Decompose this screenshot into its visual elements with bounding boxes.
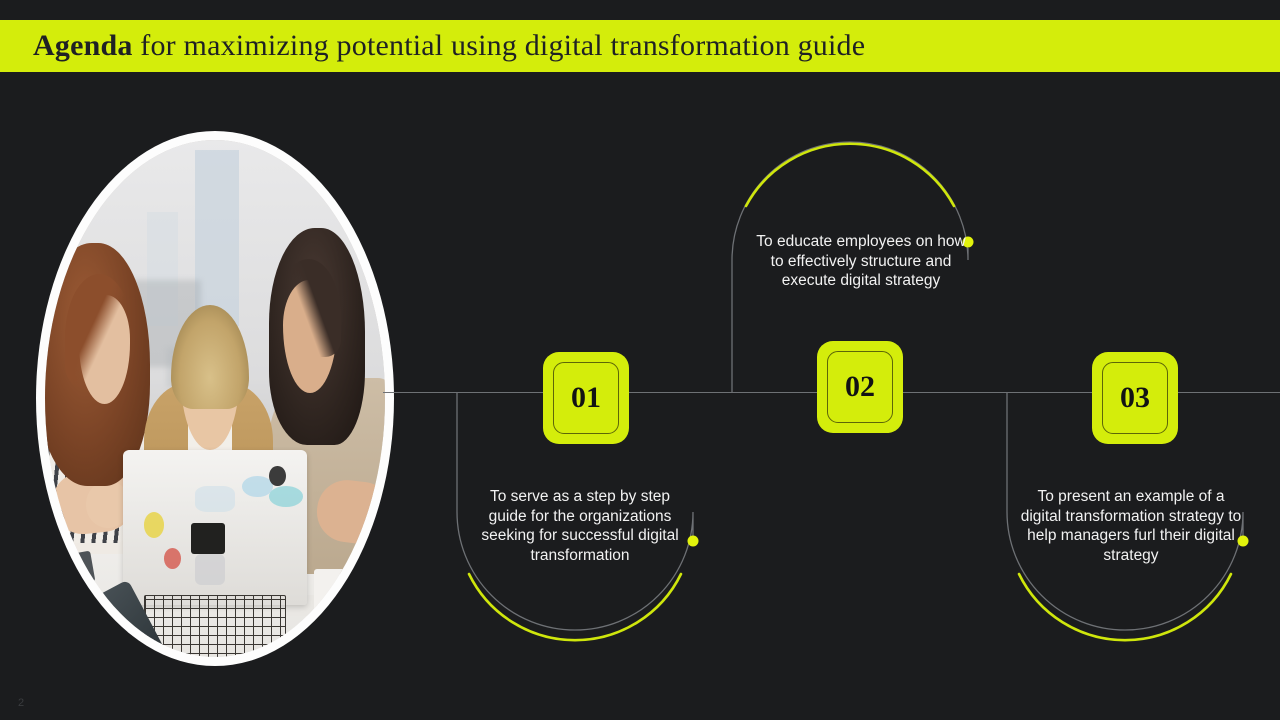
milestone-badge-03-inner: 03 (1102, 362, 1168, 434)
milestone-badge-02-inner: 02 (827, 351, 893, 423)
slide-canvas: Agenda for maximizing potential using di… (0, 0, 1280, 720)
photo-frame (36, 131, 394, 666)
photo-sticker-code (242, 476, 273, 497)
page-number: 2 (18, 697, 24, 709)
photo-sticker-figure (195, 554, 226, 585)
milestone-badge-02[interactable]: 02 (817, 341, 903, 433)
milestone-number-03: 03 (1120, 381, 1150, 415)
milestone-caption-03: To present an example of a digital trans… (1020, 487, 1242, 565)
photo-sticker-js (144, 512, 164, 538)
team-photo (45, 140, 385, 657)
photo-phone-on-table (49, 550, 95, 588)
photo-sticker-python (195, 486, 236, 512)
photo-sticker-dark (191, 523, 225, 554)
milestone-number-01: 01 (571, 381, 601, 415)
page-title-rest: for maximizing potential using digital t… (133, 29, 866, 62)
photo-mug (314, 569, 355, 616)
title-banner: Agenda for maximizing potential using di… (0, 20, 1280, 72)
milestone-caption-01: To serve as a step by step guide for the… (470, 487, 690, 565)
photo-wire-basket (144, 595, 287, 657)
milestone-number-02: 02 (845, 370, 875, 404)
photo-sticker-red (164, 548, 181, 569)
page-title: Agenda for maximizing potential using di… (0, 29, 865, 63)
arc-path-02-highlight (746, 144, 954, 206)
milestone-badge-01[interactable]: 01 (543, 352, 629, 444)
milestone-caption-02: To educate employees on how to effective… (752, 232, 970, 291)
milestone-badge-03[interactable]: 03 (1092, 352, 1178, 444)
page-title-lead: Agenda (33, 29, 133, 62)
milestone-badge-01-inner: 01 (553, 362, 619, 434)
